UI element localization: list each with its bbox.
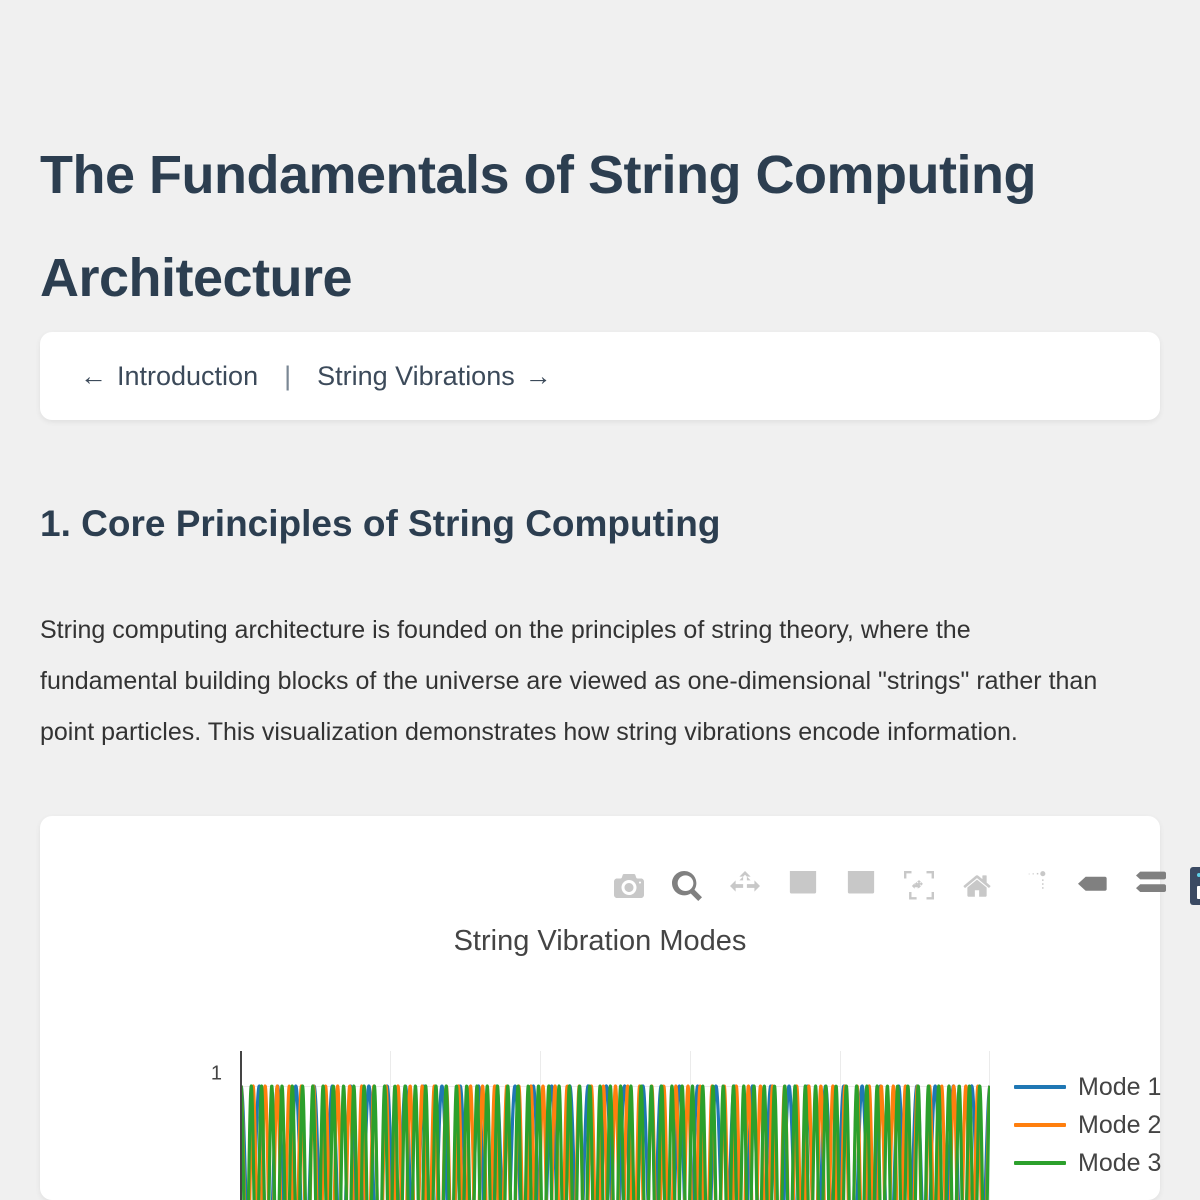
plot-area[interactable] — [241, 1055, 990, 1200]
legend-item-mode-1[interactable]: Mode 1 — [1014, 1068, 1161, 1106]
legend-item-mode-2[interactable]: Mode 2 — [1014, 1106, 1161, 1144]
legend-label-mode-3: Mode 3 — [1078, 1149, 1161, 1178]
zoom-out-icon[interactable] — [832, 862, 890, 910]
zoom-in-icon[interactable] — [774, 862, 832, 910]
page-title: The Fundamentals of String Computing Arc… — [40, 124, 1040, 329]
chart-title: String Vibration Modes — [0, 925, 1200, 958]
plotly-logo-dots — [1197, 873, 1200, 877]
legend-item-mode-3[interactable]: Mode 3 — [1014, 1144, 1161, 1182]
legend-swatch-mode-1 — [1014, 1085, 1066, 1089]
pan-icon[interactable] — [716, 862, 774, 910]
reset-axes-home-icon[interactable] — [948, 862, 1006, 910]
legend-label-mode-2: Mode 2 — [1078, 1111, 1161, 1140]
compare-data-icon[interactable] — [1122, 862, 1180, 910]
legend-swatch-mode-3 — [1014, 1161, 1066, 1165]
plotly-logo-bars — [1197, 880, 1200, 899]
vibration-waves — [241, 1055, 990, 1200]
pager-nav: ← Introduction | String Vibrations → — [40, 332, 1160, 420]
nav-next-link[interactable]: String Vibrations → — [317, 361, 552, 392]
zoom-icon[interactable] — [658, 862, 716, 910]
chart-legend: Mode 1 Mode 2 Mode 3 — [1014, 1068, 1161, 1182]
y-axis-tick-label: 1 — [211, 1063, 222, 1086]
y-axis-line — [240, 1051, 242, 1200]
autoscale-icon[interactable] — [890, 862, 948, 910]
section-paragraph: String computing architecture is founded… — [40, 605, 1115, 758]
plotly-modebar — [600, 862, 1200, 910]
legend-label-mode-1: Mode 1 — [1078, 1073, 1161, 1102]
arrow-left-icon: ← — [80, 361, 107, 392]
download-plot-icon[interactable] — [600, 862, 658, 910]
nav-prev-label: Introduction — [117, 361, 258, 392]
plotly-logo-icon[interactable] — [1180, 862, 1200, 910]
legend-swatch-mode-2 — [1014, 1123, 1066, 1127]
nav-next-label: String Vibrations — [317, 361, 515, 392]
nav-separator: | — [284, 361, 291, 392]
section-heading: 1. Core Principles of String Computing — [40, 503, 720, 545]
show-closest-data-icon[interactable] — [1064, 862, 1122, 910]
nav-prev-link[interactable]: ← Introduction — [80, 361, 258, 392]
page-root: The Fundamentals of String Computing Arc… — [0, 0, 1200, 1200]
toggle-spike-lines-icon[interactable] — [1006, 862, 1064, 910]
arrow-right-icon: → — [525, 361, 552, 392]
